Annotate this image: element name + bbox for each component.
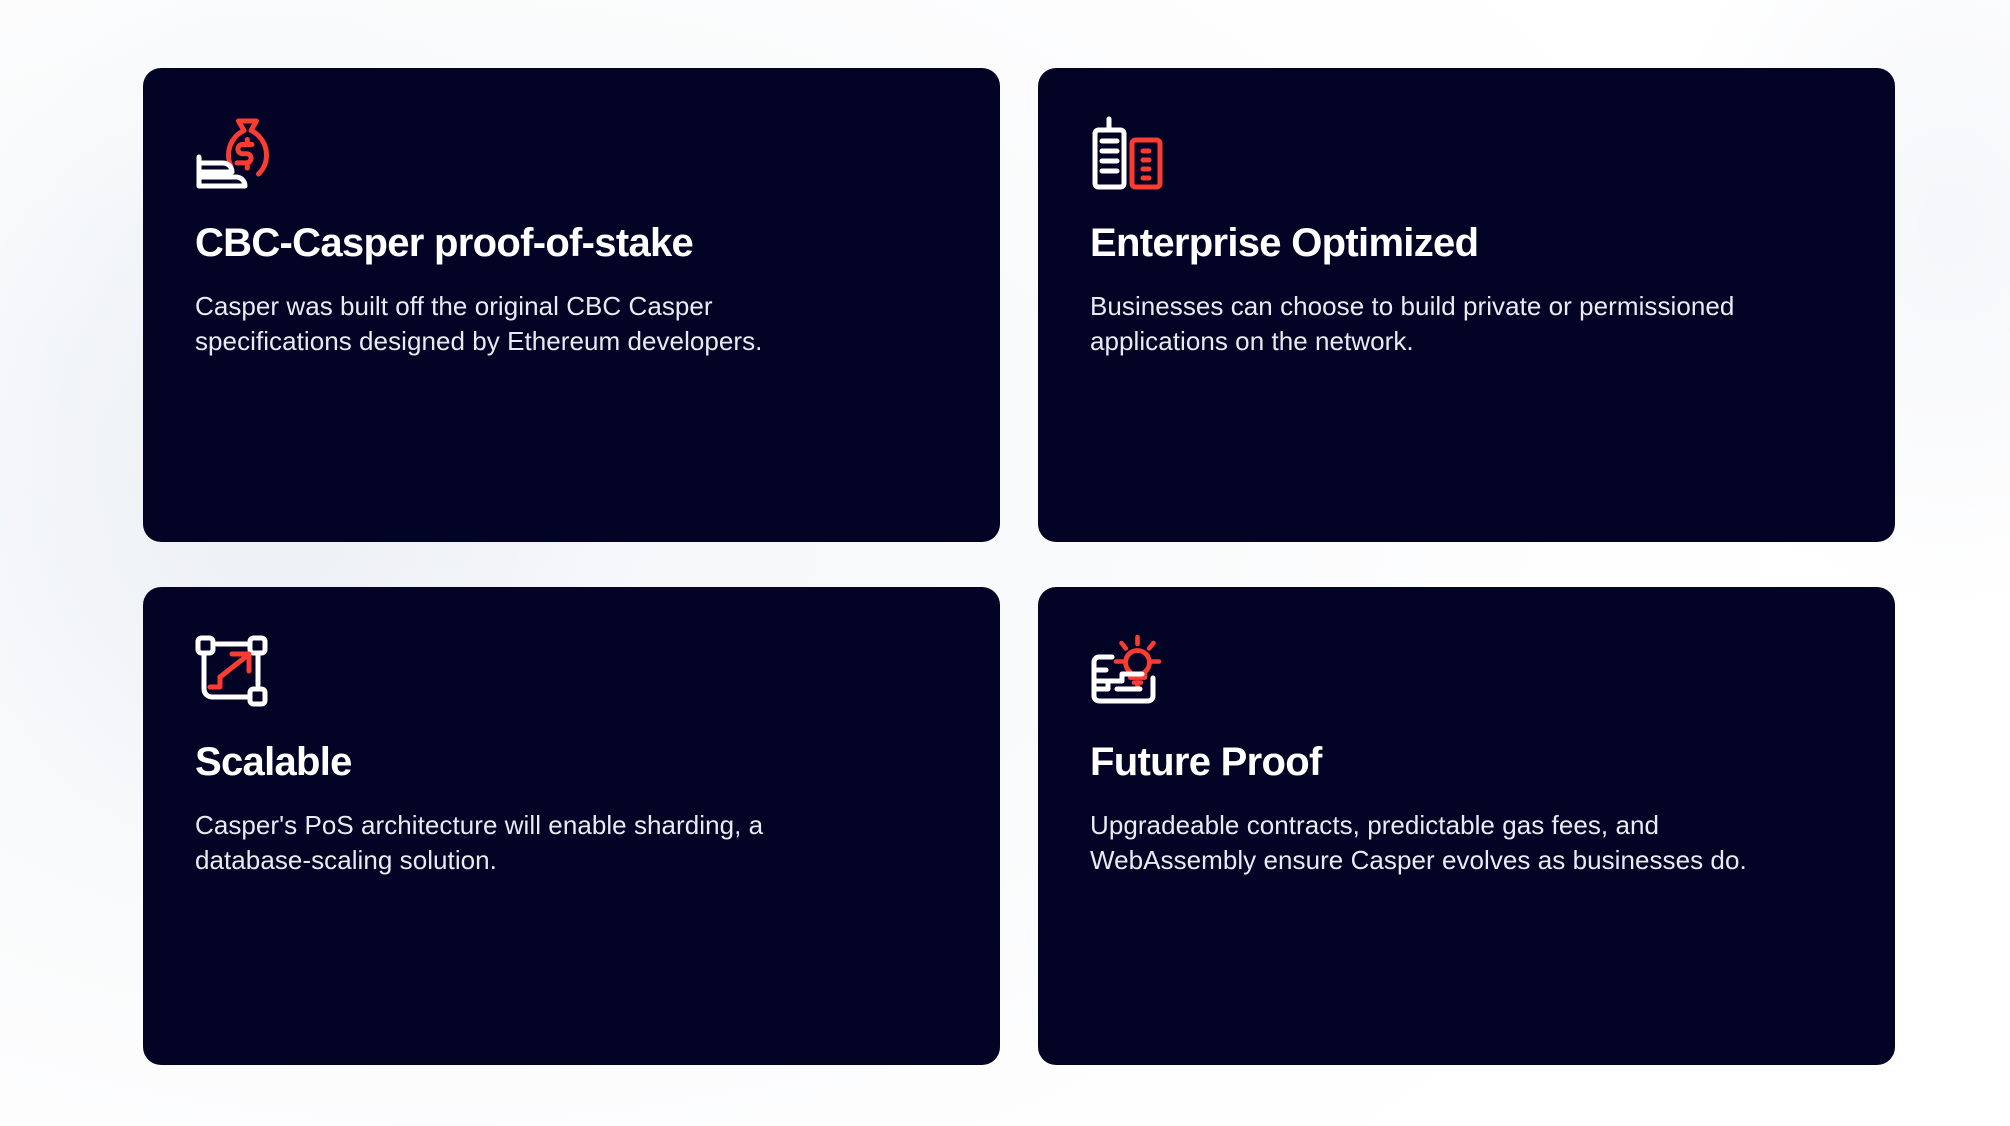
feature-card-scalable[interactable]: Scalable Casper's PoS architecture will … — [143, 587, 1000, 1065]
card-title: Scalable — [195, 739, 948, 786]
card-title: Future Proof — [1090, 739, 1843, 786]
feature-card-enterprise-optimized[interactable]: Enterprise Optimized Businesses can choo… — [1038, 68, 1895, 542]
lightbulb-circuit-icon — [1090, 634, 1174, 710]
feature-card-future-proof[interactable]: Future Proof Upgradeable contracts, pred… — [1038, 587, 1895, 1065]
money-bag-stake-icon — [195, 115, 279, 191]
card-description: Casper's PoS architecture will enable sh… — [195, 808, 835, 877]
card-title: Enterprise Optimized — [1090, 220, 1843, 267]
card-description: Casper was built off the original CBC Ca… — [195, 289, 875, 358]
feature-card-cbc-casper-proof-of-stake[interactable]: CBC-Casper proof-of-stake Casper was bui… — [143, 68, 1000, 542]
card-description: Upgradeable contracts, predictable gas f… — [1090, 808, 1780, 877]
card-description: Businesses can choose to build private o… — [1090, 289, 1770, 358]
office-buildings-icon — [1090, 115, 1174, 191]
scale-resize-arrow-icon — [195, 634, 279, 710]
card-title: CBC-Casper proof-of-stake — [195, 220, 948, 267]
feature-cards-grid: CBC-Casper proof-of-stake Casper was bui… — [143, 68, 1870, 1065]
